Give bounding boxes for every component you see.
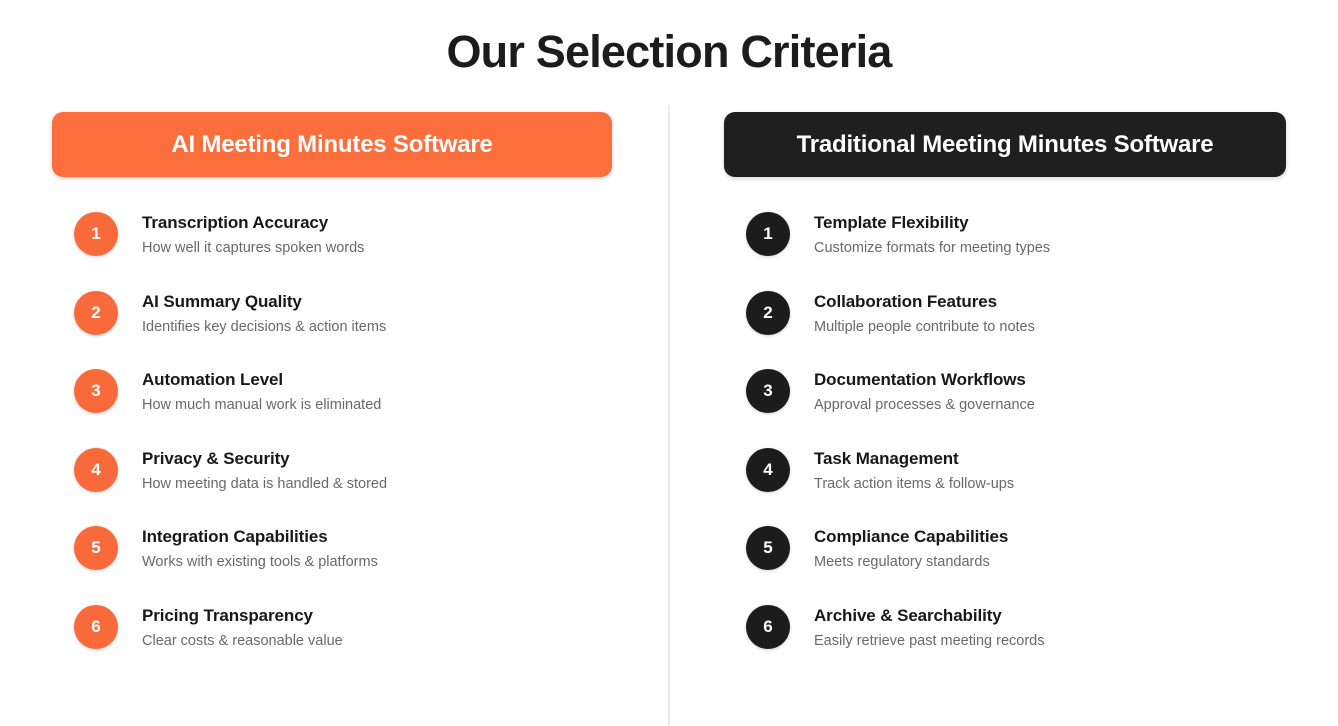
criteria-description: Approval processes & governance: [814, 394, 1035, 416]
column-divider: [668, 105, 670, 726]
criteria-description: Multiple people contribute to notes: [814, 316, 1035, 338]
criteria-text-block: Pricing Transparency Clear costs & reaso…: [142, 604, 343, 652]
column-traditional-meeting-minutes-software: Traditional Meeting Minutes Software 1 T…: [724, 112, 1286, 682]
criteria-number: 2: [91, 303, 100, 323]
list-item: 6 Archive & Searchability Easily retriev…: [746, 604, 1286, 683]
list-item: 2 AI Summary Quality Identifies key deci…: [74, 290, 612, 369]
criteria-title: Collaboration Features: [814, 291, 1035, 313]
list-item: 2 Collaboration Features Multiple people…: [746, 290, 1286, 369]
list-item: 4 Task Management Track action items & f…: [746, 447, 1286, 526]
criteria-title: Archive & Searchability: [814, 605, 1045, 627]
criteria-text-block: Collaboration Features Multiple people c…: [814, 290, 1035, 338]
criteria-description: Easily retrieve past meeting records: [814, 630, 1045, 652]
criteria-number: 3: [763, 381, 772, 401]
criteria-title: AI Summary Quality: [142, 291, 386, 313]
criteria-number-badge: 1: [746, 212, 790, 256]
list-item: 6 Pricing Transparency Clear costs & rea…: [74, 604, 612, 683]
criteria-description: Meets regulatory standards: [814, 551, 1008, 573]
criteria-number: 6: [91, 617, 100, 637]
criteria-number-badge: 4: [746, 448, 790, 492]
page-title: Our Selection Criteria: [0, 22, 1338, 82]
criteria-text-block: Transcription Accuracy How well it captu…: [142, 211, 364, 259]
criteria-number: 3: [91, 381, 100, 401]
selection-criteria-page: Our Selection Criteria AI Meeting Minute…: [0, 0, 1338, 726]
list-item: 5 Integration Capabilities Works with ex…: [74, 525, 612, 604]
criteria-text-block: Automation Level How much manual work is…: [142, 368, 381, 416]
criteria-list-traditional: 1 Template Flexibility Customize formats…: [724, 211, 1286, 682]
criteria-title: Documentation Workflows: [814, 369, 1035, 391]
column-header-banner-traditional: Traditional Meeting Minutes Software: [724, 112, 1286, 177]
criteria-number: 5: [91, 538, 100, 558]
criteria-number-badge: 2: [74, 291, 118, 335]
column-header-banner-ai: AI Meeting Minutes Software: [52, 112, 612, 177]
criteria-number-badge: 3: [74, 369, 118, 413]
criteria-description: Clear costs & reasonable value: [142, 630, 343, 652]
criteria-text-block: Template Flexibility Customize formats f…: [814, 211, 1050, 259]
column-header-label-traditional: Traditional Meeting Minutes Software: [797, 131, 1214, 159]
criteria-title: Privacy & Security: [142, 448, 387, 470]
criteria-title: Pricing Transparency: [142, 605, 343, 627]
criteria-description: Identifies key decisions & action items: [142, 316, 386, 338]
criteria-text-block: AI Summary Quality Identifies key decisi…: [142, 290, 386, 338]
criteria-text-block: Integration Capabilities Works with exis…: [142, 525, 378, 573]
criteria-title: Transcription Accuracy: [142, 212, 364, 234]
list-item: 1 Transcription Accuracy How well it cap…: [74, 211, 612, 290]
criteria-description: How well it captures spoken words: [142, 237, 364, 259]
criteria-description: Track action items & follow-ups: [814, 473, 1014, 495]
criteria-description: How meeting data is handled & stored: [142, 473, 387, 495]
list-item: 4 Privacy & Security How meeting data is…: [74, 447, 612, 526]
list-item: 1 Template Flexibility Customize formats…: [746, 211, 1286, 290]
criteria-text-block: Task Management Track action items & fol…: [814, 447, 1014, 495]
criteria-list-ai: 1 Transcription Accuracy How well it cap…: [52, 211, 612, 682]
list-item: 3 Documentation Workflows Approval proce…: [746, 368, 1286, 447]
criteria-description: Works with existing tools & platforms: [142, 551, 378, 573]
criteria-description: Customize formats for meeting types: [814, 237, 1050, 259]
criteria-description: How much manual work is eliminated: [142, 394, 381, 416]
criteria-text-block: Compliance Capabilities Meets regulatory…: [814, 525, 1008, 573]
criteria-number-badge: 6: [74, 605, 118, 649]
criteria-title: Task Management: [814, 448, 1014, 470]
criteria-text-block: Documentation Workflows Approval process…: [814, 368, 1035, 416]
criteria-title: Compliance Capabilities: [814, 526, 1008, 548]
criteria-number: 4: [91, 460, 100, 480]
criteria-text-block: Archive & Searchability Easily retrieve …: [814, 604, 1045, 652]
criteria-number: 5: [763, 538, 772, 558]
list-item: 5 Compliance Capabilities Meets regulato…: [746, 525, 1286, 604]
criteria-number: 2: [763, 303, 772, 323]
criteria-number: 4: [763, 460, 772, 480]
criteria-number-badge: 3: [746, 369, 790, 413]
criteria-text-block: Privacy & Security How meeting data is h…: [142, 447, 387, 495]
criteria-title: Automation Level: [142, 369, 381, 391]
criteria-number: 6: [763, 617, 772, 637]
criteria-number-badge: 6: [746, 605, 790, 649]
criteria-number: 1: [763, 224, 772, 244]
criteria-number-badge: 5: [746, 526, 790, 570]
column-header-label-ai: AI Meeting Minutes Software: [171, 131, 492, 159]
criteria-title: Integration Capabilities: [142, 526, 378, 548]
criteria-number-badge: 1: [74, 212, 118, 256]
criteria-number-badge: 4: [74, 448, 118, 492]
criteria-number-badge: 2: [746, 291, 790, 335]
list-item: 3 Automation Level How much manual work …: [74, 368, 612, 447]
criteria-title: Template Flexibility: [814, 212, 1050, 234]
criteria-number-badge: 5: [74, 526, 118, 570]
criteria-number: 1: [91, 224, 100, 244]
column-ai-meeting-minutes-software: AI Meeting Minutes Software 1 Transcript…: [52, 112, 612, 682]
